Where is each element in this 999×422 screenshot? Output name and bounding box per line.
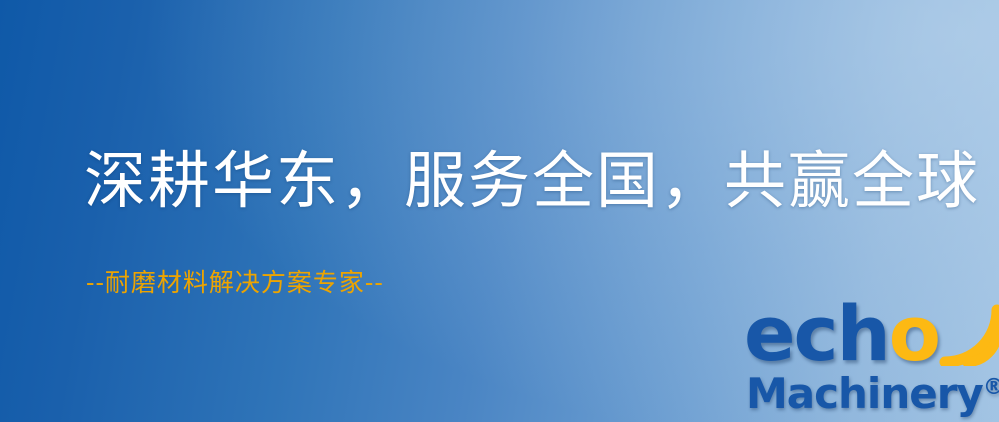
promo-banner: 深耕华东，服务全国，共赢全球 --耐磨材料解决方案专家-- echo Machi… xyxy=(0,0,999,422)
echo-machinery-logo: echo Machinery® xyxy=(744,296,994,420)
banner-headline: 深耕华东，服务全国，共赢全球 xyxy=(84,148,980,215)
logo-wordmark: echo xyxy=(744,296,939,372)
logo-subtext-label: Machinery xyxy=(746,369,983,418)
registered-trademark-icon: ® xyxy=(983,375,999,400)
banner-content: 深耕华东，服务全国，共赢全球 --耐磨材料解决方案专家-- echo Machi… xyxy=(0,0,999,422)
echo-wave-icon xyxy=(927,292,999,366)
logo-subtext: Machinery® xyxy=(746,364,999,418)
banner-subheadline: --耐磨材料解决方案专家-- xyxy=(86,268,384,298)
